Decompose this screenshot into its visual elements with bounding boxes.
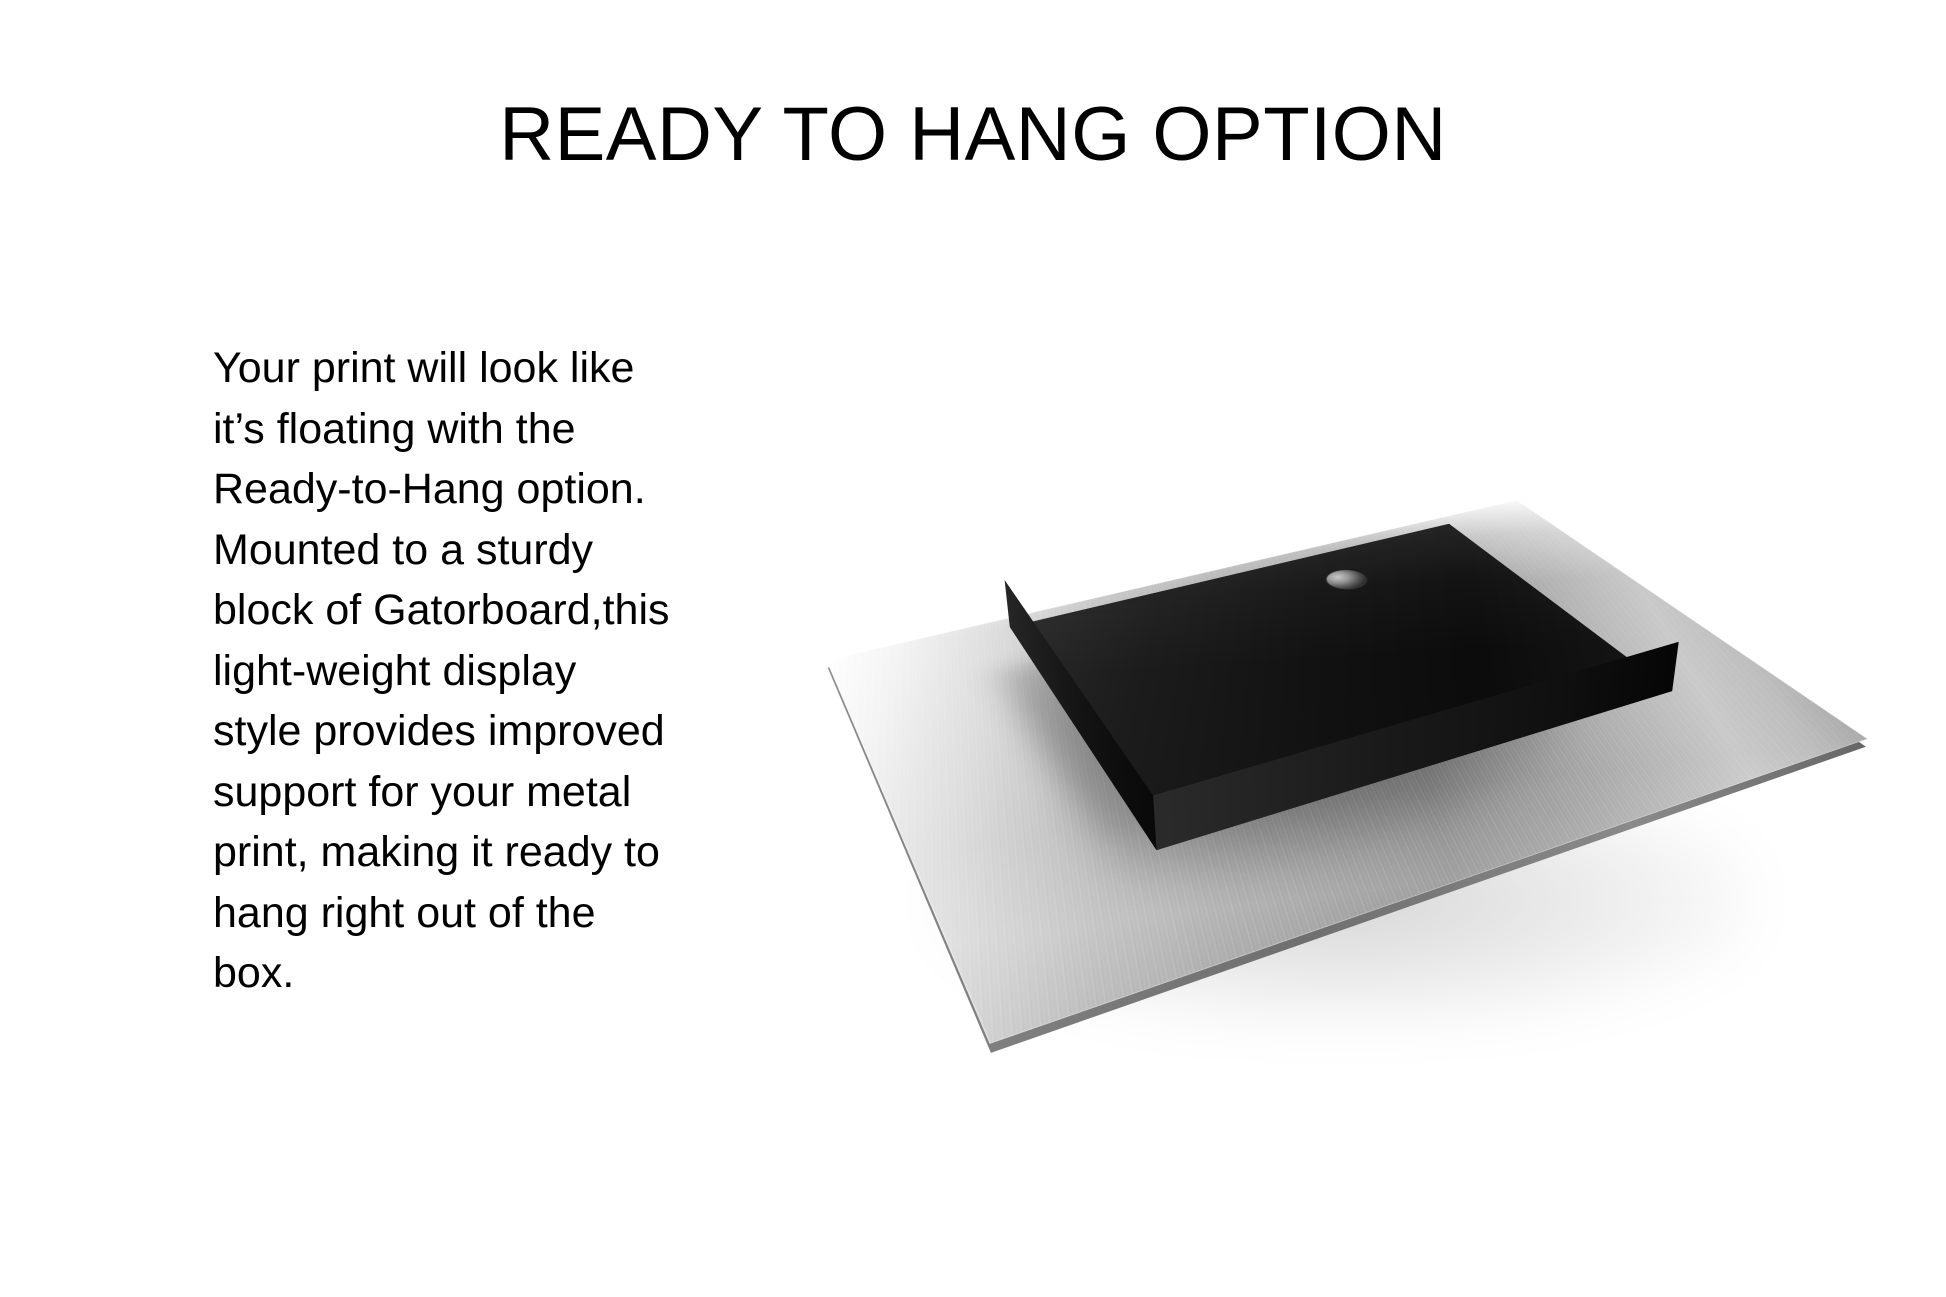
body-copy-line: style provides improved (213, 701, 773, 762)
metal-print-assembly (826, 500, 1867, 1044)
body-copy-line: print, making it ready to (213, 822, 773, 883)
product-image (845, 470, 1865, 1030)
body-copy-line: Mounted to a sturdy (213, 520, 773, 581)
body-copy-line: it’s floating with the (213, 399, 773, 460)
body-copy-line: box. (213, 943, 773, 1004)
body-copy-line: hang right out of the (213, 883, 773, 944)
product-stage (845, 470, 1865, 1030)
body-copy-line: light-weight display (213, 641, 773, 702)
body-copy-line: support for your metal (213, 762, 773, 823)
body-copy-line: block of Gatorboard,this (213, 580, 773, 641)
body-copy-line: Ready-to-Hang option. (213, 459, 773, 520)
page-title: READY TO HANG OPTION (0, 92, 1946, 178)
slide-canvas: READY TO HANG OPTION Your print will loo… (0, 0, 1946, 1297)
body-copy-line: Your print will look like (213, 338, 773, 399)
body-copy-block: Your print will look like it’s floating … (213, 338, 773, 1004)
